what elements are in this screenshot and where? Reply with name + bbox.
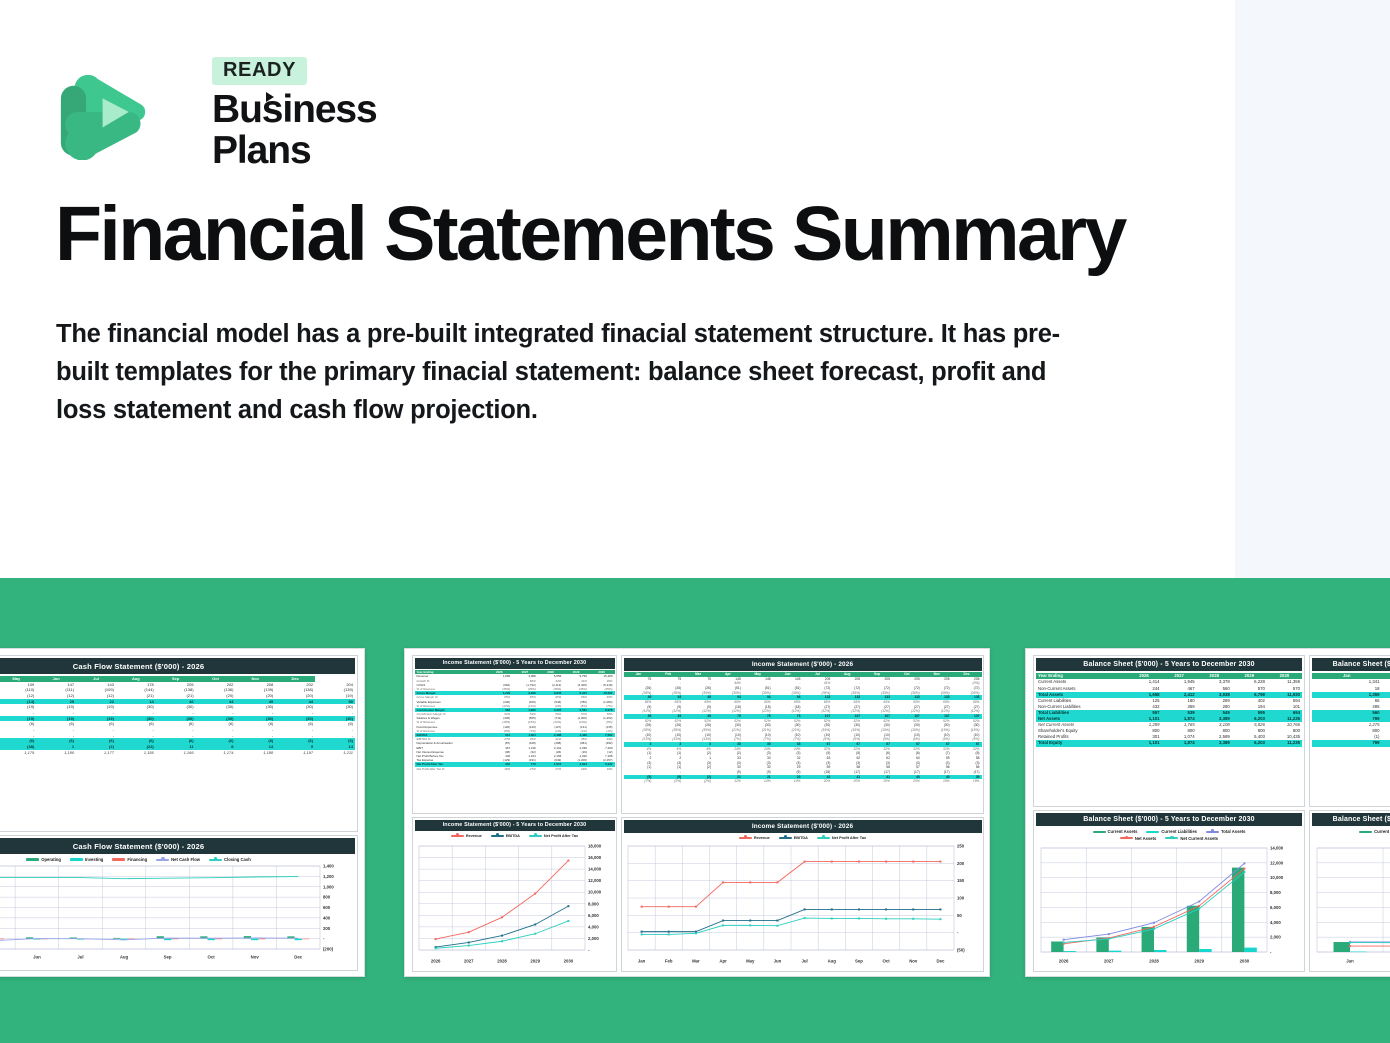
svg-text:Jan: Jan: [1346, 959, 1354, 964]
table-cell: 14%: [743, 779, 773, 784]
legend-item: Current Liabilities: [1146, 829, 1197, 834]
legend-swatch-icon: [739, 837, 752, 839]
svg-text:-: -: [323, 936, 325, 941]
table-cell: 3,389: [1197, 740, 1232, 746]
svg-text:2027: 2027: [1104, 959, 1114, 964]
svg-text:6,000: 6,000: [1270, 905, 1281, 910]
table-cell: 1,179: [0, 750, 36, 756]
income5y-chart: 18,00016,00014,00012,00010,0008,0006,000…: [415, 842, 615, 966]
svg-text:16,000: 16,000: [588, 855, 602, 860]
svg-text:400: 400: [323, 915, 331, 920]
income-monthly-table-pane: Income Statement ($'000) - 2026 JanFebMa…: [621, 655, 984, 814]
svg-text:14,000: 14,000: [1270, 846, 1284, 851]
svg-text:4,000: 4,000: [1270, 920, 1281, 925]
svg-text:Jul: Jul: [801, 959, 807, 964]
balance-monthly-chart: JanFeb: [1313, 844, 1390, 966]
legend-item: Net Profit After Tax: [817, 836, 866, 840]
table-cell: 1,166: [156, 750, 196, 756]
income5y-table-title: Income Statement ($'000) - 5 Years to De…: [415, 658, 615, 669]
legend-label: Revenue: [754, 836, 770, 840]
svg-text:10,000: 10,000: [588, 890, 602, 895]
balance5y-chart-title: Balance Sheet ($'000) - 5 Years to Decem…: [1036, 813, 1302, 826]
svg-text:-: -: [957, 930, 959, 935]
svg-text:Apr: Apr: [719, 959, 727, 964]
income5y-table-pane: Income Statement ($'000) - 5 Years to De…: [412, 655, 617, 814]
legend-label: Net Current Assets: [1180, 836, 1218, 841]
legend-swatch-icon: [1359, 831, 1372, 833]
svg-text:Jun: Jun: [774, 959, 782, 964]
legend-swatch-icon: [1165, 837, 1178, 839]
balance5y-table-title: Balance Sheet ($'000) - 5 Years to Decem…: [1036, 658, 1302, 671]
legend-swatch-icon: [491, 835, 504, 837]
balance-monthly-chart-legend: Current Assets: [1310, 829, 1390, 834]
legend-item: Net Assets: [1120, 836, 1157, 841]
table-cell: 798: [1382, 740, 1390, 746]
legend-item: EBITDA: [779, 836, 808, 840]
screenshot-card-balance[interactable]: Balance Sheet ($'000) - 5 Years to Decem…: [1025, 648, 1390, 977]
income-monthly-chart-title: Income Statement ($'000) - 2026: [624, 820, 982, 833]
legend-label: Net Profit After Tax: [832, 836, 866, 840]
table-cell: 27%: [538, 767, 564, 771]
page-title: Financial Statements Summary: [55, 196, 1175, 273]
table-cell: 14%: [773, 779, 803, 784]
svg-text:Aug: Aug: [120, 955, 129, 960]
balance-monthly-table-pane: Balance Sheet ($'000) - 2026 JanFeb1,341…: [1309, 655, 1390, 807]
table-cell: 6,203: [1232, 740, 1267, 746]
page-subtitle: The financial model has a pre-built inte…: [56, 316, 1096, 430]
legend-item: Net Profit After Tax: [529, 834, 578, 838]
legend-swatch-icon: [1146, 831, 1159, 833]
table-cell: (2%): [683, 779, 713, 784]
svg-text:Nov: Nov: [251, 955, 260, 960]
legend-swatch-icon: [779, 837, 792, 839]
legend-item: Net Current Assets: [1165, 836, 1218, 841]
svg-text:2029: 2029: [530, 959, 540, 964]
balance5y-table: Year Ending20262027202820292030Current A…: [1036, 673, 1302, 746]
screenshot-card-cashflow[interactable]: Cash Flow Statement ($'000) - 2026 AprMa…: [0, 648, 365, 977]
svg-text:Jun: Jun: [33, 955, 41, 960]
svg-text:800: 800: [323, 895, 331, 900]
svg-text:1,400: 1,400: [323, 864, 334, 869]
balance5y-chart-legend-row2: Net AssetsNet Current Assets: [1034, 836, 1304, 841]
cashflow-chart-title: Cash Flow Statement ($'000) - 2026: [0, 838, 355, 854]
legend-label: EBITDA: [794, 836, 808, 840]
svg-text:2027: 2027: [464, 959, 474, 964]
svg-text:250: 250: [957, 844, 965, 849]
legend-label: EBITDA: [506, 834, 520, 838]
svg-text:2026: 2026: [431, 959, 441, 964]
svg-text:12,000: 12,000: [588, 878, 602, 883]
svg-text:(50): (50): [957, 948, 965, 953]
table-cell: 27%: [512, 767, 538, 771]
svg-text:Jan: Jan: [638, 959, 646, 964]
table-cell: 1,188: [235, 750, 275, 756]
svg-text:Aug: Aug: [828, 959, 837, 964]
balance-monthly-chart-title: Balance Sheet ($'000) - 2026: [1312, 813, 1390, 826]
cashflow-table-title: Cash Flow Statement ($'000) - 2026: [0, 658, 355, 674]
svg-text:200: 200: [957, 861, 965, 866]
income-monthly-chart-legend: RevenueEBITDANet Profit After Tax: [622, 836, 983, 840]
balance5y-chart-legend-row1: Current AssetsCurrent LiabilitiesTotal A…: [1034, 829, 1304, 834]
svg-text:2,000: 2,000: [588, 936, 599, 941]
legend-item: Total Assets: [1206, 829, 1245, 834]
svg-text:(200): (200): [323, 947, 334, 952]
legend-label: Revenue: [466, 834, 482, 838]
legend-swatch-icon: [112, 858, 125, 860]
balance5y-chart-pane: Balance Sheet ($'000) - 5 Years to Decem…: [1033, 810, 1305, 972]
table-cell: 16%: [487, 767, 513, 771]
svg-text:Dec: Dec: [294, 955, 302, 960]
income5y-chart-legend: RevenueEBITDANet Profit After Tax: [413, 834, 616, 838]
svg-text:1,000: 1,000: [323, 884, 334, 889]
table-cell: 20%: [862, 779, 892, 784]
table-row: 1,2171,1791,1801,1771,1561,1661,1741,188…: [0, 750, 355, 756]
table-cell: 1,180: [36, 750, 76, 756]
legend-swatch-icon: [817, 837, 830, 839]
svg-text:Sep: Sep: [855, 959, 863, 964]
play-dot-icon: [266, 92, 274, 102]
legend-swatch-icon: [1206, 831, 1219, 833]
balance5y-chart: 14,00012,00010,0008,0006,0004,0002,000-2…: [1037, 844, 1303, 966]
table-row: Net Profit After Tax %16%27%27%29%33%: [415, 767, 615, 771]
legend-label: Current Assets: [1374, 829, 1390, 834]
table-cell: 11,235: [1267, 740, 1302, 746]
legend-swatch-icon: [1093, 831, 1106, 833]
svg-text:8,000: 8,000: [1270, 890, 1281, 895]
legend-item: Current Assets: [1359, 829, 1390, 834]
table-cell: 12%: [713, 779, 743, 784]
table-cell: 1,177: [76, 750, 116, 756]
balance5y-table-pane: Balance Sheet ($'000) - 5 Years to Decem…: [1033, 655, 1305, 807]
income-monthly-table-title: Income Statement ($'000) - 2026: [624, 658, 982, 671]
svg-text:-: -: [1270, 950, 1272, 955]
table-cell: 1,156: [116, 750, 156, 756]
svg-text:4,000: 4,000: [588, 924, 599, 929]
svg-text:2028: 2028: [1149, 959, 1159, 964]
svg-text:150: 150: [957, 878, 965, 883]
legend-label: Total Assets: [1221, 829, 1245, 834]
balance-monthly-chart-pane: Balance Sheet ($'000) - 2026 Current Ass…: [1309, 810, 1390, 972]
svg-text:2030: 2030: [564, 959, 574, 964]
income5y-chart-pane: Income Statement ($'000) - 5 Years to De…: [412, 817, 617, 972]
svg-text:Jul: Jul: [77, 955, 83, 960]
legend-swatch-icon: [70, 858, 83, 860]
table-cell: 29%: [563, 767, 589, 771]
table-cell: (2%): [653, 779, 683, 784]
play-triangle-logo-icon: [57, 60, 154, 160]
legend-swatch-icon: [529, 835, 542, 837]
income-monthly-table: JanFebMarAprMayJunJulAugSepOctNovDec7575…: [624, 672, 982, 784]
svg-text:1,200: 1,200: [323, 874, 334, 879]
svg-text:600: 600: [323, 905, 331, 910]
ready-badge: READY: [212, 57, 307, 85]
table-cell: 1,197: [275, 750, 315, 756]
svg-text:Oct: Oct: [882, 959, 890, 964]
svg-text:2029: 2029: [1194, 959, 1204, 964]
cashflow-chart-pane: Cash Flow Statement ($'000) - 2026 Opera…: [0, 835, 358, 971]
svg-text:Mar: Mar: [692, 959, 700, 964]
legend-item: Current Assets: [1093, 829, 1138, 834]
legend-swatch-icon: [156, 859, 169, 861]
legend-label: Current Liabilities: [1161, 829, 1197, 834]
svg-text:6,000: 6,000: [588, 913, 599, 918]
table-cell: 19%: [952, 779, 982, 784]
table-row: Total Equity1,1011,8743,3896,20311,235: [1036, 740, 1302, 746]
svg-text:8,000: 8,000: [588, 901, 599, 906]
legend-swatch-icon: [26, 858, 39, 860]
svg-text:2028: 2028: [497, 959, 507, 964]
svg-text:50: 50: [957, 913, 962, 918]
svg-text:2030: 2030: [1240, 959, 1250, 964]
svg-text:12,000: 12,000: [1270, 860, 1284, 865]
brand-text: READY Business Plans: [212, 57, 457, 172]
cashflow-table-pane: Cash Flow Statement ($'000) - 2026 AprMa…: [0, 655, 358, 832]
table-cell: 1,174: [196, 750, 236, 756]
income5y-chart-title: Income Statement ($'000) - 5 Years to De…: [415, 820, 615, 831]
table-cell: 799: [1312, 740, 1382, 746]
legend-label: Current Assets: [1108, 829, 1138, 834]
balance-monthly-table-title: Balance Sheet ($'000) - 2026: [1312, 658, 1390, 671]
svg-text:10,000: 10,000: [1270, 875, 1284, 880]
svg-text:2,000: 2,000: [1270, 935, 1281, 940]
legend-item: EBITDA: [491, 834, 520, 838]
table-cell: 1,874: [1162, 740, 1197, 746]
svg-text:Oct: Oct: [208, 955, 216, 960]
table-cell: 20%: [892, 779, 922, 784]
svg-text:100: 100: [957, 896, 965, 901]
table-row: (7%)(2%)(2%)12%14%14%20%20%20%20%19%19%: [624, 779, 982, 784]
table-cell: 19%: [922, 779, 952, 784]
hero-section: READY Business Plans Financial Statement…: [0, 0, 1390, 578]
svg-text:200: 200: [323, 926, 331, 931]
svg-text:May: May: [746, 959, 755, 964]
svg-text:14,000: 14,000: [588, 867, 602, 872]
brand-name: Business Plans: [212, 90, 457, 172]
income-monthly-chart: 25020015010050-(50)JanFebMarAprMayJunJul…: [624, 842, 982, 966]
table-cell: Total Equity: [1036, 740, 1126, 746]
table-cell: 33%: [589, 767, 615, 771]
legend-item: Revenue: [451, 834, 482, 838]
legend-label: Net Profit After Tax: [544, 834, 578, 838]
svg-text:Dec: Dec: [936, 959, 944, 964]
svg-text:Sep: Sep: [164, 955, 172, 960]
income5y-table: Year Ending20262027202820292030Revenue1,…: [415, 670, 615, 771]
screenshot-card-income[interactable]: Income Statement ($'000) - 5 Years to De…: [404, 648, 990, 977]
table-cell: 20%: [832, 779, 862, 784]
svg-text:Nov: Nov: [909, 959, 918, 964]
table-cell: 20%: [802, 779, 832, 784]
brand-lockup: READY Business Plans: [57, 57, 457, 162]
cashflow-chart: 1,4001,2001,000800600400200-(200)AprMayJ…: [0, 862, 354, 962]
legend-swatch-icon: [1120, 837, 1133, 839]
svg-text:2026: 2026: [1059, 959, 1069, 964]
table-cell: Net Profit After Tax %: [415, 767, 487, 771]
table-cell: (7%): [624, 779, 654, 784]
legend-label: Net Assets: [1135, 836, 1157, 841]
svg-text:Feb: Feb: [665, 959, 673, 964]
table-row: 799798: [1312, 740, 1390, 746]
legend-item: Revenue: [739, 836, 770, 840]
legend-swatch-icon: [209, 859, 222, 861]
cashflow-table: AprMayJunJulAugSepOctNovDec7910914714317…: [0, 676, 355, 755]
income-monthly-chart-pane: Income Statement ($'000) - 2026 RevenueE…: [621, 817, 984, 972]
table-cell: 1,211: [315, 750, 355, 756]
brand-name-label: Business Plans: [212, 88, 377, 172]
legend-swatch-icon: [451, 835, 464, 837]
balance-monthly-table: JanFeb1,3411,32318361,3591,3596572495489…: [1312, 673, 1390, 746]
svg-text:18,000: 18,000: [588, 844, 602, 849]
svg-text:-: -: [588, 948, 590, 953]
table-cell: 1,101: [1126, 740, 1161, 746]
